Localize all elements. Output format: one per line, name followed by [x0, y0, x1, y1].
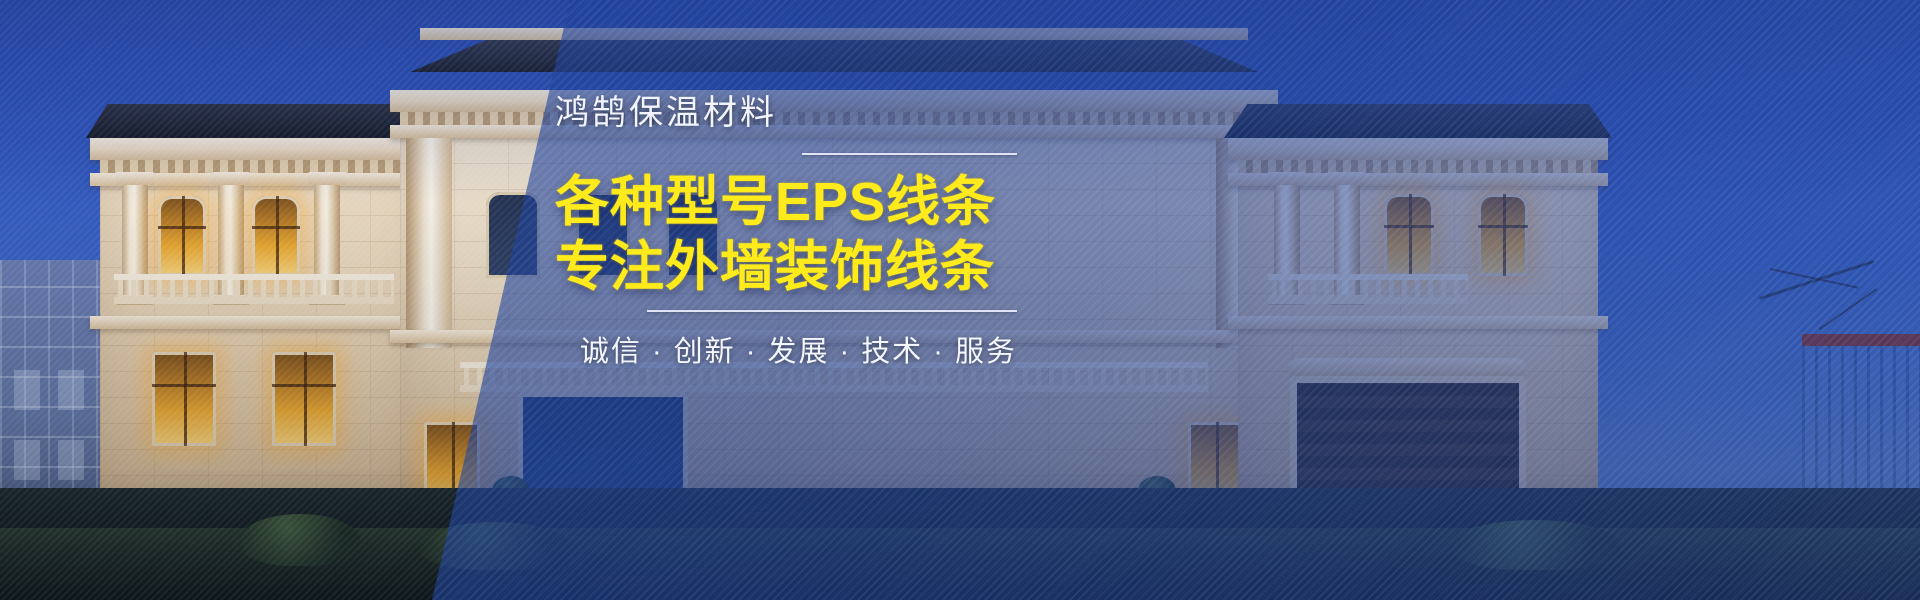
headline-group: 各种型号EPS线条 专注外墙装饰线条	[555, 173, 1025, 298]
headline-line-2: 专注外墙装饰线条	[555, 238, 1025, 297]
headline-line-1: 各种型号EPS线条	[555, 173, 1025, 232]
banner-text-block: 鸿鹄保温材料 各种型号EPS线条 专注外墙装饰线条 诚信 · 创新 · 发展 ·…	[555, 96, 1025, 370]
divider-top	[802, 153, 1017, 155]
hero-banner: 鸿鹄保温材料 各种型号EPS线条 专注外墙装饰线条 诚信 · 创新 · 发展 ·…	[0, 0, 1920, 600]
brand-name: 鸿鹄保温材料	[555, 96, 1025, 130]
divider-bottom	[647, 310, 1017, 312]
tagline: 诚信 · 创新 · 发展 · 技术 · 服务	[555, 328, 1025, 370]
